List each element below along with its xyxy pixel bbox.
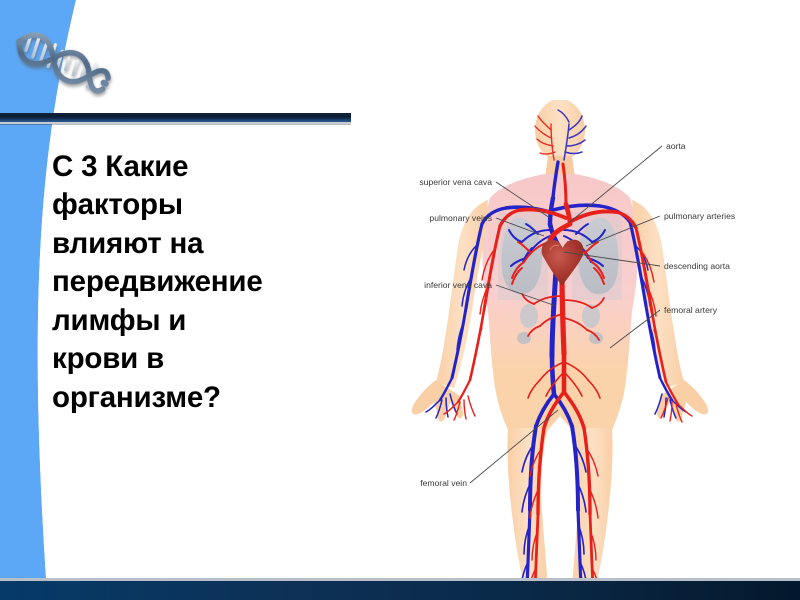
- body-silhouette: [412, 100, 708, 598]
- label-aorta: aorta: [666, 141, 686, 151]
- label-femoral-artery: femoral artery: [664, 305, 718, 315]
- label-pulmonary-arteries: pulmonary arteries: [664, 211, 735, 221]
- label-descending-aorta: descending aorta: [664, 261, 730, 271]
- label-inferior-vena-cava: inferior vena cava: [424, 280, 492, 290]
- dna-helix-icon: [6, 22, 116, 104]
- label-pulmonary-veins: pulmonary veins: [429, 213, 492, 223]
- label-femoral-vein: femoral vein: [420, 478, 467, 488]
- presentation-slide: С 3 Какие факторы влияют на передвижение…: [0, 0, 800, 600]
- page-title: С 3 Какие факторы влияют на передвижение…: [52, 148, 362, 417]
- circulatory-system-figure: superior vena cava pulmonary veins infer…: [372, 100, 800, 600]
- top-blue-strip: [0, 0, 74, 6]
- slide-footer-bar: [0, 578, 800, 600]
- label-superior-vena-cava: superior vena cava: [419, 177, 492, 187]
- title-divider-rule: [0, 113, 351, 124]
